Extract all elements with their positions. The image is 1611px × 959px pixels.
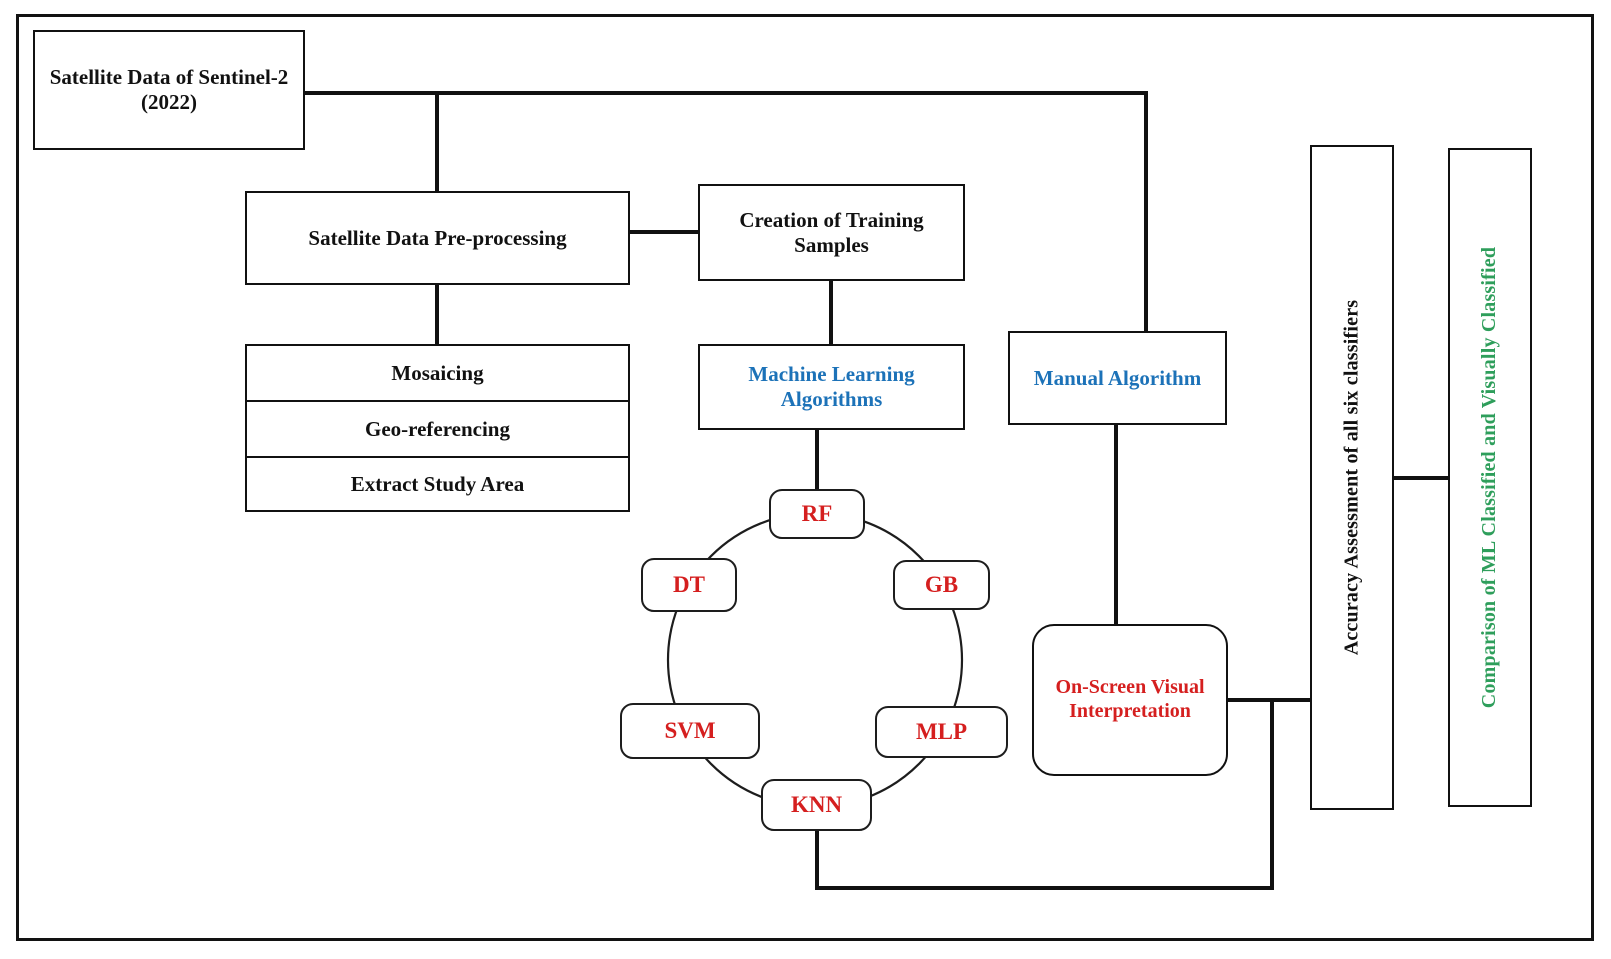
preprocessing-step-extract-study-area-label: Extract Study Area xyxy=(351,472,524,497)
classifier-node-gb[interactable]: GB xyxy=(893,560,990,610)
node-comparison-ml-vs-visual[interactable]: Comparison of ML Classified and Visually… xyxy=(1448,148,1532,807)
node-preprocessing-label: Satellite Data Pre-processing xyxy=(302,226,572,251)
node-machine-learning-algorithms[interactable]: Machine Learning Algorithms xyxy=(698,344,965,430)
node-ml-algorithms-label: Machine Learning Algorithms xyxy=(700,362,963,412)
node-satellite-data-label: Satellite Data of Sentinel-2 (2022) xyxy=(35,65,303,115)
classifier-node-mlp[interactable]: MLP xyxy=(875,706,1008,758)
node-creation-of-training-samples[interactable]: Creation of Training Samples xyxy=(698,184,965,281)
classifier-node-dt[interactable]: DT xyxy=(641,558,737,612)
node-accuracy-assessment[interactable]: Accuracy Assessment of all six classifie… xyxy=(1310,145,1394,810)
classifier-label-rf: RF xyxy=(802,501,833,527)
node-satellite-data-preprocessing[interactable]: Satellite Data Pre-processing xyxy=(245,191,630,285)
classifier-label-svm: SVM xyxy=(664,718,715,744)
node-on-screen-visual-interpretation[interactable]: On-Screen Visual Interpretation xyxy=(1032,624,1228,776)
classifier-label-gb: GB xyxy=(925,572,958,598)
preprocessing-step-mosaicing-label: Mosaicing xyxy=(391,361,483,386)
classifier-node-rf[interactable]: RF xyxy=(769,489,865,539)
classifier-label-knn: KNN xyxy=(791,792,842,818)
classifier-node-svm[interactable]: SVM xyxy=(620,703,760,759)
node-accuracy-assessment-label: Accuracy Assessment of all six classifie… xyxy=(1341,300,1364,656)
flowchart-canvas: Satellite Data of Sentinel-2 (2022) Sate… xyxy=(0,0,1611,959)
classifier-label-mlp: MLP xyxy=(916,719,967,745)
node-manual-algorithm[interactable]: Manual Algorithm xyxy=(1008,331,1227,425)
classifier-label-dt: DT xyxy=(673,572,705,598)
node-manual-algorithm-label: Manual Algorithm xyxy=(1028,366,1207,391)
preprocessing-step-stack: Mosaicing Geo-referencing Extract Study … xyxy=(245,344,630,512)
node-onscreen-label: On-Screen Visual Interpretation xyxy=(1034,676,1226,723)
node-training-samples-label: Creation of Training Samples xyxy=(700,208,963,258)
node-comparison-label: Comparison of ML Classified and Visually… xyxy=(1479,247,1502,708)
preprocessing-step-mosaicing[interactable]: Mosaicing xyxy=(245,344,630,400)
preprocessing-step-georeferencing-label: Geo-referencing xyxy=(365,417,510,442)
classifier-node-knn[interactable]: KNN xyxy=(761,779,872,831)
preprocessing-step-georeferencing[interactable]: Geo-referencing xyxy=(245,400,630,456)
node-satellite-data[interactable]: Satellite Data of Sentinel-2 (2022) xyxy=(33,30,305,150)
preprocessing-step-extract-study-area[interactable]: Extract Study Area xyxy=(245,456,630,512)
